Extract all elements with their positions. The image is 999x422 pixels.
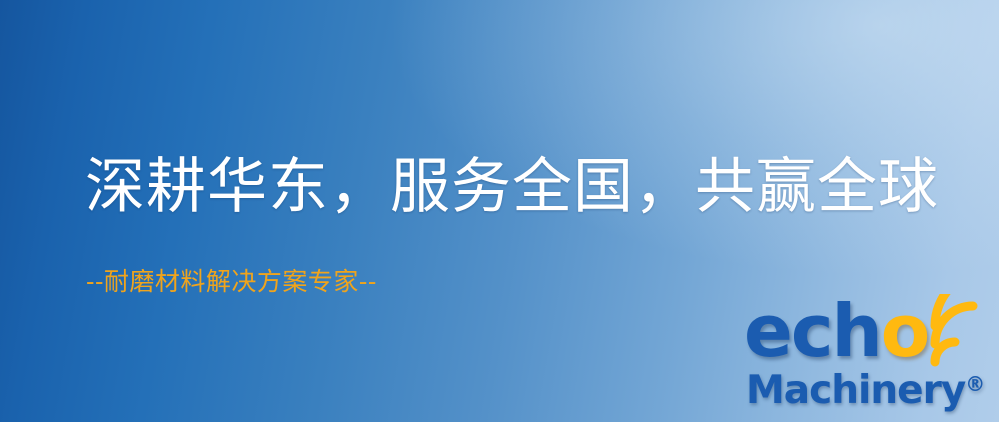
signal-waves-icon bbox=[930, 294, 999, 368]
banner-subtitle: --耐磨材料解决方案专家-- bbox=[86, 266, 377, 298]
logo-wordmark-prefix: ech bbox=[744, 289, 881, 373]
banner-headline: 深耕华东，服务全国，共赢全球 bbox=[85, 152, 939, 222]
logo-subtext: Machinery® bbox=[746, 368, 985, 413]
registered-trademark-icon: ® bbox=[965, 372, 985, 396]
hero-banner: 深耕华东，服务全国，共赢全球 --耐磨材料解决方案专家-- echo Machi… bbox=[0, 0, 999, 422]
logo-subtext-label: Machinery bbox=[746, 368, 965, 413]
logo-wordmark: echo bbox=[744, 296, 928, 366]
company-logo[interactable]: echo Machinery® bbox=[744, 296, 996, 418]
logo-wordmark-o: o bbox=[881, 289, 928, 373]
